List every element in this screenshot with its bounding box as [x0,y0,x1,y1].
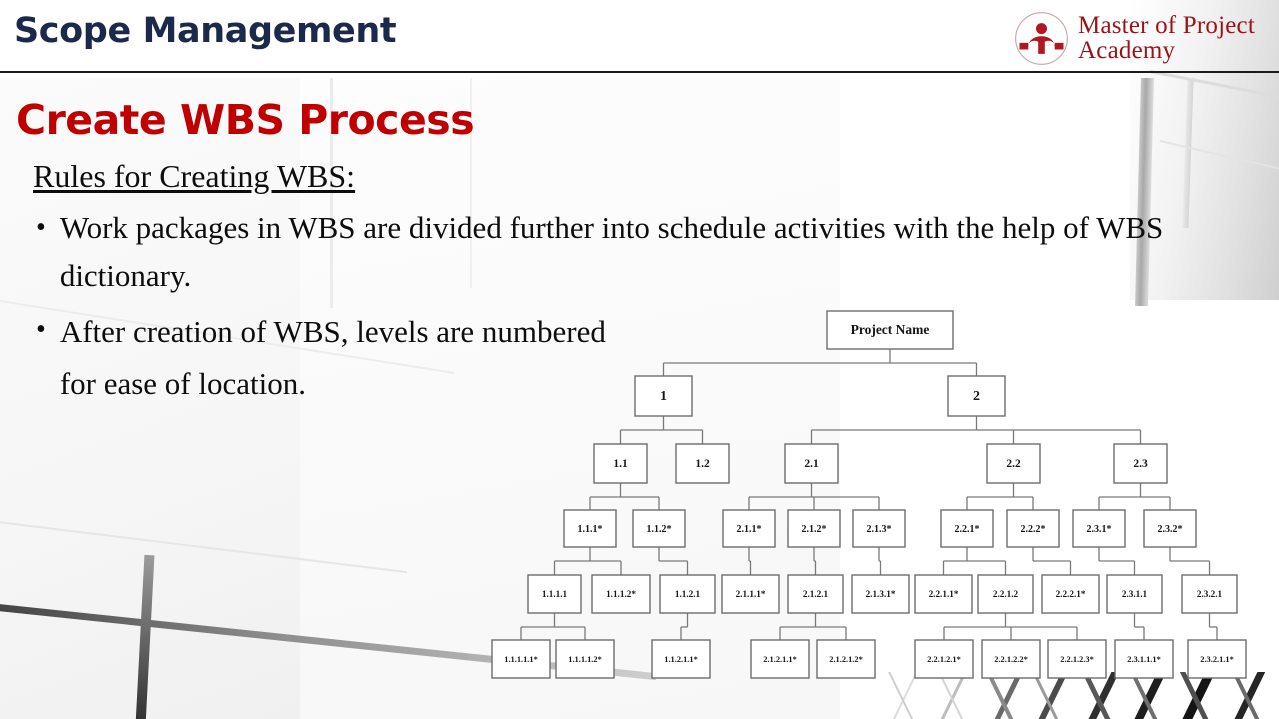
wbs-node-label: 1.1.2.1 [675,589,701,599]
wbs-node-2-3-1: 2.3.1* [1073,510,1125,547]
wbs-node-label: 2.1.2.1 [803,589,829,599]
wbs-node-2-3: 2.3 [1114,444,1167,483]
section-heading: Create WBS Process [16,96,474,144]
wbs-node-1-2: 1.2 [676,444,729,483]
wbs-node-label: 2.1.3.1* [866,589,896,599]
wbs-node-label: 2.3.1.1.1* [1127,655,1161,664]
wbs-node-2-1-2-1-2: 2.1.2.1.2* [817,640,875,678]
wbs-node-2-3-1-1-1: 2.3.1.1.1* [1115,640,1173,678]
wbs-node-1-1-2-1-1: 1.1.2.1.1* [652,640,710,678]
wbs-node-1: 1 [635,376,692,416]
wbs-node-2-1-1: 2.1.1* [723,510,775,547]
wbs-node-label: 1.1.1* [578,524,603,535]
wbs-node-label: 2.1.2.1.1* [763,655,797,664]
header-divider [0,71,1279,73]
wbs-node-2-1-2-1: 2.1.2.1 [788,575,843,613]
bullet-icon: • [36,204,46,300]
wbs-node-label: 2.2.1.1* [929,589,959,599]
wbs-node-label: 2 [973,389,980,404]
page-title: Scope Management [14,11,396,51]
wbs-tree-diagram: Project Name121.11.22.12.22.31.1.1*1.1.2… [470,232,1279,692]
wbs-node-2-2-1-1: 2.2.1.1* [915,575,972,613]
wbs-node-label: 2.1.2* [802,524,827,535]
wbs-node-label: 2.2 [1006,458,1021,470]
wbs-node-2-2-2-1: 2.2.2.1* [1042,575,1099,613]
wbs-node-1-1-2-1: 1.1.2.1 [660,575,715,613]
wbs-tree-svg: Project Name121.11.22.12.22.31.1.1*1.1.2… [470,232,1279,692]
wbs-node-2-3-1-1: 2.3.1.1 [1107,575,1162,613]
wbs-node-2-1-2: 2.1.2* [788,510,840,547]
wbs-node-label: 1.1.1.1.2* [568,655,602,664]
wbs-node-2-2-2: 2.2.2* [1007,510,1059,547]
wbs-node-2-2-1-2-1: 2.2.1.2.1* [915,640,973,678]
wbs-node-label: 2.3 [1133,458,1148,470]
bullet-icon: • [36,306,46,410]
wbs-node-label: 2.1.1* [737,524,762,535]
wbs-node-label: 2.2.1* [955,524,980,535]
wbs-node-2: 2 [948,376,1005,416]
wbs-node-label: 2.1.3* [867,524,892,535]
academy-person-icon [1014,11,1069,66]
wbs-node-label: Project Name [851,322,930,337]
wbs-node-label: 2.1.1.1* [736,589,766,599]
wbs-node-label: 2.2.2* [1021,524,1046,535]
wbs-node-label: 1.1.2* [647,524,672,535]
wbs-node-1-1-1-1: 1.1.1.1 [528,575,581,613]
wbs-node-label: 2.1 [804,458,819,470]
wbs-node-label: 1.2 [695,458,710,470]
wbs-node-label: 1 [660,389,667,404]
wbs-node-group: Project Name121.11.22.12.22.31.1.1*1.1.2… [492,311,1246,678]
wbs-node-2-3-2-1-1: 2.3.2.1.1* [1188,640,1246,678]
wbs-node-project-name: Project Name [827,311,953,349]
wbs-node-1-1-1-1-1: 1.1.1.1.1* [492,640,550,678]
slide-header: Scope Management Master of Project Acade… [0,0,1279,72]
wbs-node-1-1-1-2: 1.1.1.2* [592,575,650,613]
wbs-node-label: 2.2.2.1* [1056,589,1086,599]
wbs-node-2-1: 2.1 [785,444,838,483]
wbs-node-2-2-1-2-2: 2.2.1.2.2* [982,640,1040,678]
wbs-node-label: 2.3.2* [1158,524,1183,535]
brand-logo-text: Master of Project Academy [1078,13,1255,64]
wbs-node-1-1-1-1-2: 1.1.1.1.2* [556,640,614,678]
wbs-node-2-3-2: 2.3.2* [1144,510,1196,547]
rules-subheading: Rules for Creating WBS: [33,158,355,195]
wbs-node-label: 2.3.2.1.1* [1200,655,1234,664]
wbs-node-2-1-2-1-1: 2.1.2.1.1* [751,640,809,678]
wbs-node-label: 2.2.1.2.2* [994,655,1028,664]
wbs-node-label: 2.2.1.2.1* [927,655,961,664]
brand-logo-line-2: Academy [1078,38,1255,64]
wbs-node-1-1-1: 1.1.1* [564,510,616,547]
wbs-node-label: 2.2.1.2 [993,589,1019,599]
wbs-node-label: 1.1 [613,458,628,470]
wbs-node-label: 2.1.2.1.2* [829,655,863,664]
brand-logo: Master of Project Academy [1014,10,1255,66]
wbs-node-2-1-1-1: 2.1.1.1* [722,575,779,613]
wbs-node-label: 1.1.1.2* [606,589,636,599]
wbs-node-2-2: 2.2 [987,444,1040,483]
wbs-node-label: 2.3.1* [1087,524,1112,535]
wbs-node-2-2-1-2: 2.2.1.2 [978,575,1033,613]
wbs-node-label: 2.2.1.2.3* [1060,655,1094,664]
wbs-node-2-1-3: 2.1.3* [853,510,905,547]
wbs-node-label: 2.3.1.1 [1122,589,1148,599]
wbs-node-2-2-1: 2.2.1* [941,510,993,547]
wbs-node-label: 1.1.1.1 [542,589,568,599]
wbs-node-label: 1.1.1.1.1* [504,655,538,664]
wbs-node-2-3-2-1: 2.3.2.1 [1182,575,1237,613]
brand-logo-line-1: Master of Project [1078,13,1255,39]
wbs-node-label: 1.1.2.1.1* [664,655,698,664]
wbs-node-label: 2.3.2.1 [1197,589,1223,599]
wbs-node-1-1: 1.1 [594,444,647,483]
wbs-node-1-1-2: 1.1.2* [633,510,685,547]
wbs-node-2-2-1-2-3: 2.2.1.2.3* [1048,640,1106,678]
wbs-node-2-1-3-1: 2.1.3.1* [852,575,909,613]
